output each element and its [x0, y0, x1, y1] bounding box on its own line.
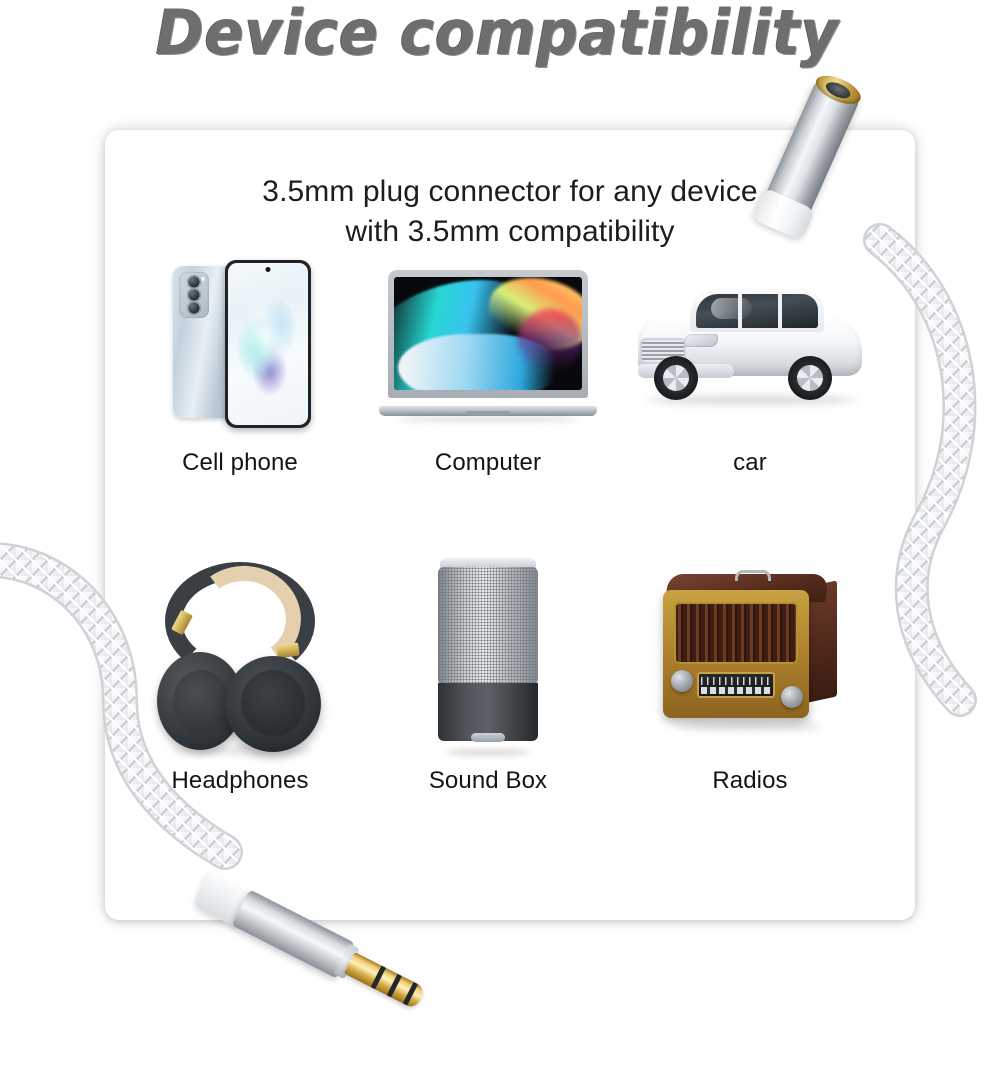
infographic-stage: Device compatibility 3.5mm plug connecto…	[0, 0, 995, 1000]
plug-gold-contact-pin	[344, 952, 426, 1010]
device-grid: Cell phone Computer	[105, 258, 915, 848]
radio-speaker-grille	[674, 602, 798, 664]
laptop-icon	[363, 258, 613, 438]
laptop-notch	[466, 411, 510, 416]
laptop-shadow	[397, 417, 579, 422]
front-camera-icon	[266, 267, 271, 272]
device-item-radios: Radios	[625, 556, 875, 796]
device-label: Sound Box	[363, 768, 613, 794]
car-icon	[625, 258, 875, 438]
speaker-mesh-grille	[438, 567, 538, 685]
device-item-computer: Computer	[363, 258, 613, 488]
headphone-earcup-right	[225, 656, 321, 752]
device-item-sound-box: Sound Box	[363, 556, 613, 796]
radio-tuning-dial	[697, 672, 775, 698]
radio-knob-right	[781, 686, 803, 708]
speaker-button	[471, 733, 505, 742]
car-wheel-rear	[788, 356, 832, 400]
radio-handle	[735, 570, 771, 581]
laptop-lid	[388, 270, 588, 398]
radio-front-panel	[663, 590, 809, 718]
device-label: Headphones	[115, 768, 365, 794]
headphones-icon	[115, 556, 365, 756]
car-windows	[696, 294, 818, 328]
headphone-shadow	[171, 746, 311, 754]
device-label: Radios	[625, 768, 875, 794]
smartphone-icon	[115, 258, 365, 438]
device-label: car	[625, 450, 875, 476]
device-item-headphones: Headphones	[115, 556, 365, 796]
device-label: Cell phone	[115, 450, 365, 476]
car-headlight	[684, 334, 718, 347]
device-item-car: car	[625, 258, 875, 488]
radio-shadow	[673, 722, 823, 730]
phone-front-body	[225, 260, 311, 428]
car-wheel-front	[654, 356, 698, 400]
phone-screen	[228, 263, 308, 425]
speaker-shadow	[446, 749, 530, 756]
speaker-icon	[363, 556, 613, 756]
car-shadow	[646, 396, 858, 404]
radio-icon	[625, 556, 875, 756]
laptop-screen	[394, 277, 582, 390]
device-item-cell-phone: Cell phone	[115, 258, 365, 488]
camera-module-icon	[179, 272, 209, 318]
device-label: Computer	[363, 450, 613, 476]
radio-knob-left	[671, 670, 693, 692]
page-title: Device compatibility	[35, 2, 960, 64]
plug-metal-barrel	[232, 889, 355, 978]
